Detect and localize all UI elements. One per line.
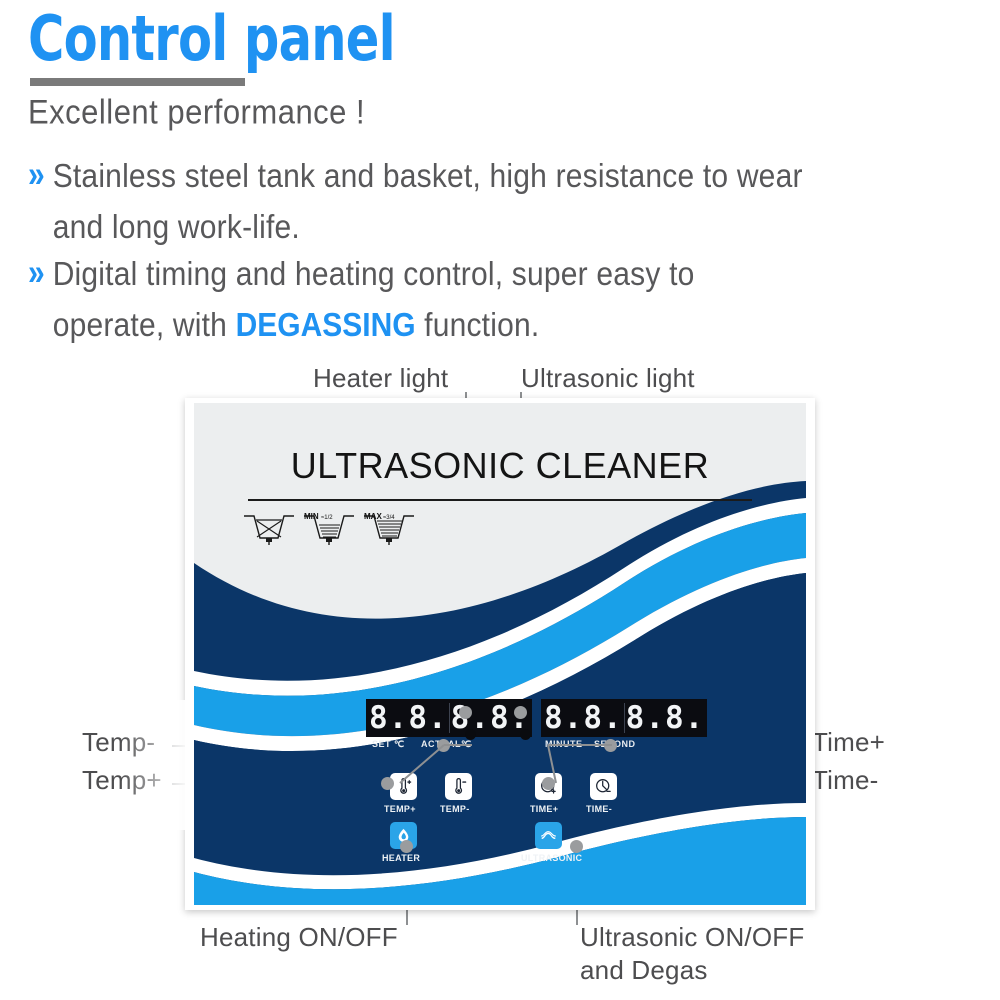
callout-dot-temp-down [437,739,450,752]
tank-level-icon-group: MIN ≈1/2 MAX ≈3/4 [242,508,422,548]
feature-bullet-2: » Digital timing and heating control, su… [28,250,695,342]
brand-title: ULTRASONIC CLEANER [194,445,806,487]
control-panel-face: ULTRASONIC CLEANER [194,403,806,905]
feature-bullet-1: » Stainless steel tank and basket, high … [28,152,803,244]
timer-minute-caption: MINUTE [545,739,583,749]
temp-down-button[interactable] [445,773,472,800]
degassing-emphasis: DEGASSING [236,307,416,343]
left-fade-overlay [120,700,190,830]
subtitle: Excellent performance ! [28,92,365,132]
temperature-display: 8.8. 8.8. [366,699,532,737]
callout-dot-heater-light [459,706,472,719]
page-title: Control panel [28,8,395,70]
callout-heater-light-label: Heater light [313,363,448,394]
display-divider [449,703,450,733]
callout-ultrasonic-onoff-label-line1: Ultrasonic ON/OFF [580,922,804,953]
temp-up-button[interactable] [390,773,417,800]
tank-min-level: ≈1/2 [321,515,333,521]
ultrasonic-button-label: ULTRASONIC [521,853,582,863]
feature-bullet-1-line-1: Stainless steel tank and basket, high re… [53,159,803,195]
callout-ultrasonic-onoff-label-line2: and Degas [580,955,708,986]
thermometer-plus-icon [394,777,413,796]
double-chevron-right-icon: » [28,154,41,197]
heater-button-label: HEATER [382,853,420,863]
feature-bullet-1-line-2: and long work-life. [53,209,300,245]
callout-dot-ultrasonic-light [514,706,527,719]
time-down-button-label: TIME- [586,804,612,814]
callout-time-plus-label: Time+ [812,727,885,758]
timer-second-digits: 8.8. [626,701,705,735]
time-down-button[interactable] [590,773,617,800]
brand-underline [248,499,752,501]
display-divider [624,703,625,733]
temp-set-digits: 8.8. [369,701,448,735]
callout-dot-time-down [604,739,617,752]
feature-bullet-2-line-2-after: function. [416,307,540,343]
tank-max-label: MAX [364,512,382,521]
sound-wave-icon [539,826,558,845]
callout-heating-onoff-label: Heating ON/OFF [200,922,398,953]
callout-dot-heater-button [400,840,413,853]
clock-minus-icon [594,777,613,796]
temp-set-caption: SET ℃ [372,739,405,750]
callout-dot-time-up [542,777,555,790]
title-underline-bar [30,78,245,86]
timer-minute-digits: 8.8. [544,701,623,735]
callout-dot-temp-up [381,777,394,790]
tank-min-label: MIN [304,512,319,521]
timer-display: 8.8. 8.8. [541,699,707,737]
callout-ultrasonic-light-label: Ultrasonic light [521,363,695,394]
temp-up-button-label: TEMP+ [384,804,416,814]
heater-indicator-light [465,729,476,740]
ultrasonic-indicator-light [520,729,531,740]
ultrasonic-button[interactable] [535,822,562,849]
control-panel-device: ULTRASONIC CLEANER [185,398,815,910]
tank-max-level: ≈3/4 [383,515,395,521]
callout-dot-ultrasonic-button [570,840,583,853]
feature-bullet-2-line-1: Digital timing and heating control, supe… [53,257,695,293]
tank-empty-icon [244,516,294,545]
double-chevron-right-icon: » [28,252,41,295]
callout-time-minus-label: Time- [812,765,878,796]
time-up-button-label: TIME+ [530,804,558,814]
thermometer-minus-icon [449,777,468,796]
temp-down-button-label: TEMP- [440,804,470,814]
feature-bullet-2-line-2-before: operate, with [53,307,236,343]
